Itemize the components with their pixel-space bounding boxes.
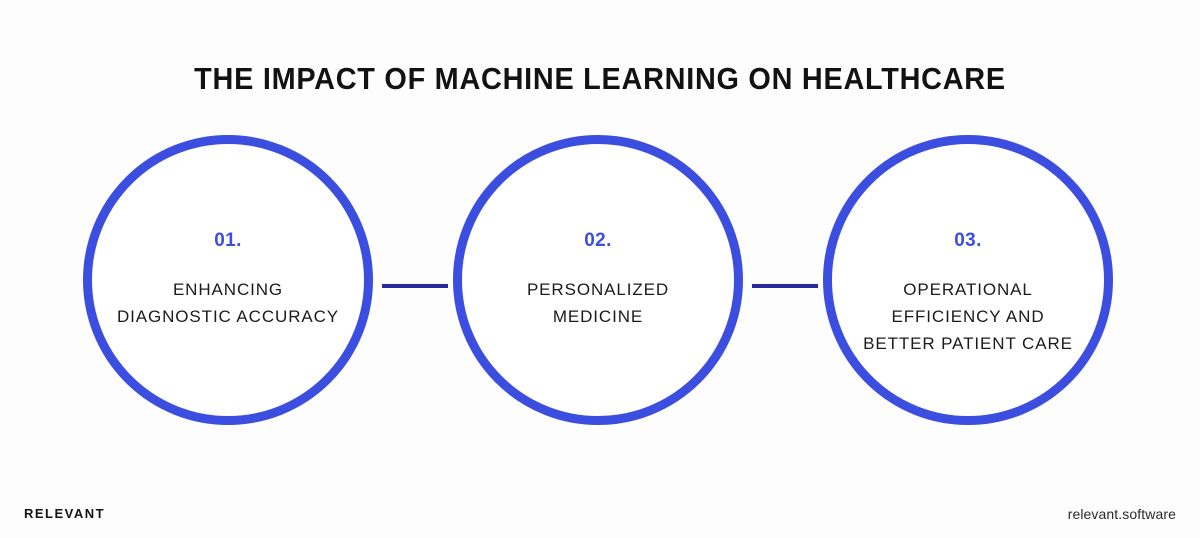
- step-number-1: 01.: [214, 231, 242, 251]
- infographic-canvas: THE IMPACT OF MACHINE LEARNING ON HEALTH…: [0, 0, 1200, 538]
- step-label-2: PERSONALIZED MEDICINE: [483, 276, 713, 330]
- circle-content: 03. OPERATIONAL EFFICIENCY AND BETTER PA…: [823, 135, 1113, 425]
- step-number-3: 03.: [954, 231, 982, 251]
- step-circle-1: 01. ENHANCING DIAGNOSTIC ACCURACY: [72, 124, 384, 436]
- circle-content: 02. PERSONALIZED MEDICINE: [453, 135, 743, 425]
- step-circle-3: 03. OPERATIONAL EFFICIENCY AND BETTER PA…: [812, 124, 1124, 436]
- brand-wordmark: RELEVANT: [24, 506, 105, 521]
- step-circle-2: 02. PERSONALIZED MEDICINE: [442, 124, 754, 436]
- step-label-1: ENHANCING DIAGNOSTIC ACCURACY: [113, 276, 343, 330]
- step-label-3: OPERATIONAL EFFICIENCY AND BETTER PATIEN…: [861, 276, 1076, 357]
- circle-content: 01. ENHANCING DIAGNOSTIC ACCURACY: [83, 135, 373, 425]
- website-url: relevant.software: [1068, 506, 1176, 522]
- step-number-2: 02.: [584, 231, 612, 251]
- connector-line-2-3: [752, 284, 818, 288]
- connector-line-1-2: [382, 284, 448, 288]
- page-title: THE IMPACT OF MACHINE LEARNING ON HEALTH…: [42, 59, 1158, 99]
